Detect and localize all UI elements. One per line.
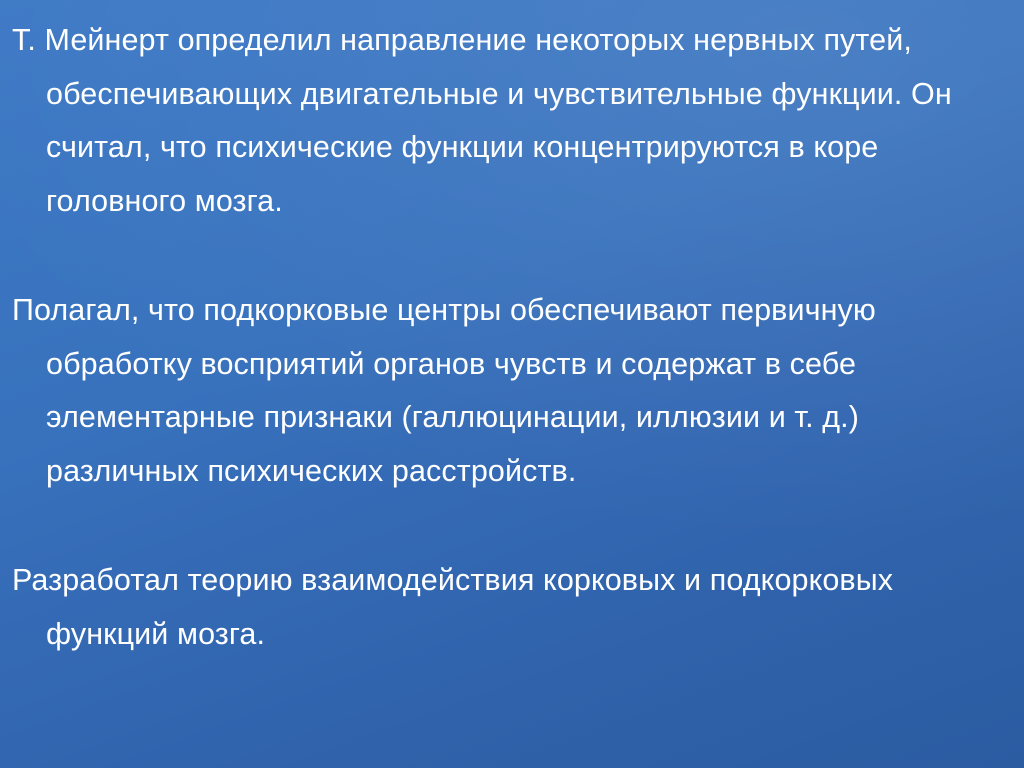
paragraph-subcortical-centers: Полагал, что подкорковые центры обеспечи… — [12, 284, 1008, 498]
paragraph-cortical-subcortical-theory: Разработал теорию взаимодействия корковы… — [12, 554, 1008, 661]
slide-canvas: Т. Мейнерт определил направление некотор… — [0, 0, 1024, 768]
paragraph-meynert-pathways: Т. Мейнерт определил направление некотор… — [12, 14, 1008, 228]
slide-body-text: Т. Мейнерт определил направление некотор… — [12, 14, 1008, 661]
